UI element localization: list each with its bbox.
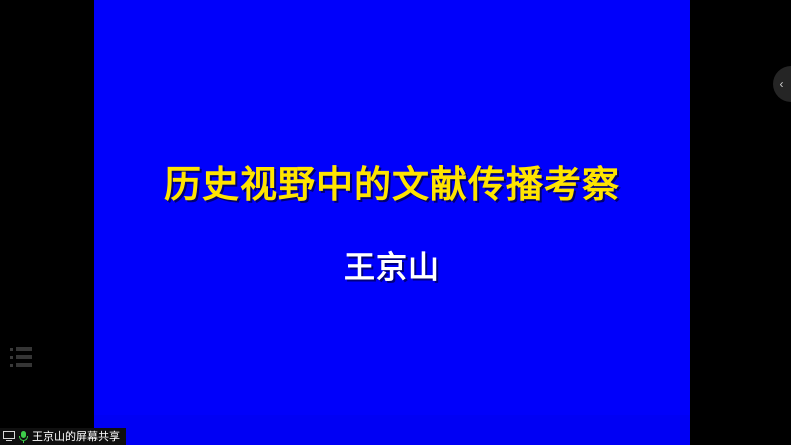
monitor-icon: [3, 431, 15, 442]
video-banding-artifact: [94, 415, 690, 445]
right-letterbox-panel: ‹: [690, 0, 791, 445]
shared-screen-viewport[interactable]: 历史视野中的文献传播考察 王京山: [94, 0, 690, 445]
screen-share-label: 王京山的屏幕共享: [32, 431, 120, 442]
list-view-icon-dot: [10, 348, 13, 351]
slide-title: 历史视野中的文献传播考察: [94, 164, 690, 206]
monitor-icon-screen: [3, 431, 15, 439]
microphone-icon-stem: [23, 441, 24, 443]
list-view-icon-dot: [10, 364, 13, 367]
list-view-icon-dot: [10, 356, 13, 359]
meeting-window: 历史视野中的文献传播考察 王京山 ‹ 王京山的屏幕共享: [0, 0, 791, 445]
microphone-icon: [19, 431, 28, 443]
screen-share-status-bar: 王京山的屏幕共享: [0, 428, 126, 445]
list-view-icon-bar: [16, 363, 32, 367]
left-letterbox-panel: [0, 0, 94, 445]
list-view-icon-bar: [16, 355, 32, 359]
slide-subtitle-author: 王京山: [94, 250, 690, 286]
list-view-icon-row: [10, 363, 32, 367]
list-view-icon-row: [10, 355, 32, 359]
monitor-icon-stand: [6, 440, 12, 441]
list-view-icon-row: [10, 347, 32, 351]
collapse-panel-button[interactable]: ‹: [773, 66, 791, 102]
chevron-left-icon: ‹: [780, 78, 784, 90]
presentation-slide: 历史视野中的文献传播考察 王京山: [94, 0, 690, 445]
list-view-icon-bar: [16, 347, 32, 351]
list-view-icon[interactable]: [10, 347, 32, 367]
